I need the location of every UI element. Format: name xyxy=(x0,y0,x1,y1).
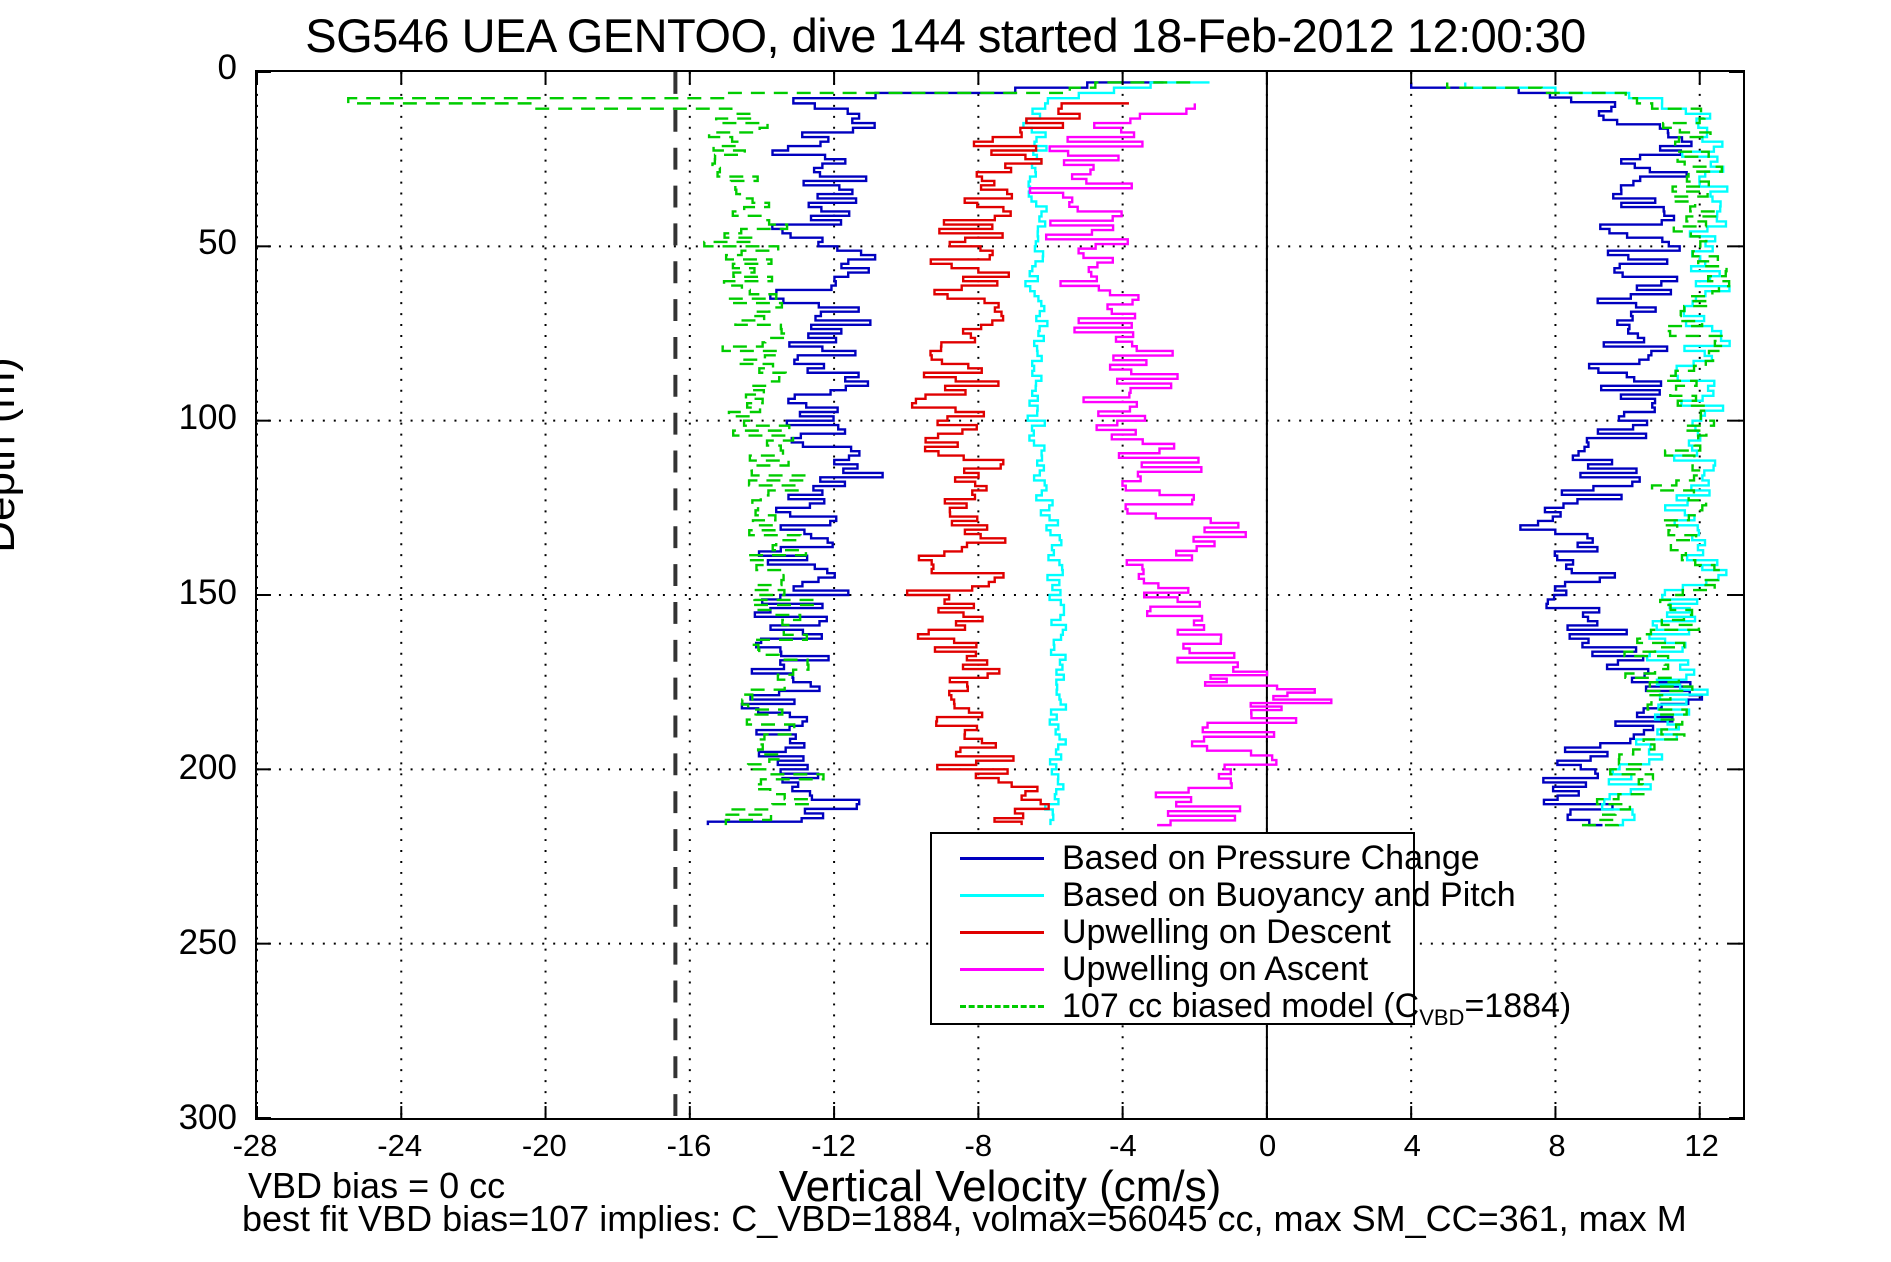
y-tick-label: 50 xyxy=(87,223,237,263)
legend-item[interactable]: Based on Pressure Change xyxy=(932,840,1413,877)
x-tick-label: -4 xyxy=(1063,1128,1183,1164)
x-tick-label: -20 xyxy=(484,1128,604,1164)
best-fit-annotation: best fit VBD bias=107 implies: C_VBD=188… xyxy=(242,1198,1687,1240)
x-tick-label: -24 xyxy=(340,1128,460,1164)
legend-item[interactable]: Upwelling on Ascent xyxy=(932,951,1413,988)
legend-item-label: Upwelling on Descent xyxy=(1062,914,1391,951)
x-tick-label: -12 xyxy=(774,1128,894,1164)
legend: Based on Pressure ChangeBased on Buoyanc… xyxy=(930,832,1415,1025)
legend-item[interactable]: Upwelling on Descent xyxy=(932,914,1413,951)
series-line-0 xyxy=(708,82,1164,825)
x-tick-label: -8 xyxy=(918,1128,1038,1164)
legend-item-label: Upwelling on Ascent xyxy=(1062,951,1368,988)
series-line-5 xyxy=(1030,103,1331,825)
legend-swatch-line xyxy=(960,857,1044,860)
series-line-3 xyxy=(1465,82,1729,825)
y-tick-label: 0 xyxy=(87,48,237,88)
x-tick-label: -16 xyxy=(629,1128,749,1164)
x-tick-label: -28 xyxy=(195,1128,315,1164)
legend-item-label: Based on Pressure Change xyxy=(1062,840,1480,877)
x-tick-label: 4 xyxy=(1352,1128,1472,1164)
series-layer xyxy=(348,82,1729,825)
y-axis-title: Depth (m) xyxy=(0,235,25,675)
legend-swatch-line xyxy=(960,1005,1044,1008)
legend-item-label: 107 cc biased model (CVBD=1884) xyxy=(1062,988,1571,1036)
x-tick-label: 12 xyxy=(1642,1128,1762,1164)
page-title: SG546 UEA GENTOO, dive 144 started 18-Fe… xyxy=(0,8,1891,64)
legend-swatch-line xyxy=(960,968,1044,971)
y-tick-label: 150 xyxy=(87,573,237,613)
x-tick-label: 0 xyxy=(1208,1128,1328,1164)
y-tick-label: 100 xyxy=(87,398,237,438)
series-line-7 xyxy=(1447,82,1729,825)
legend-swatch-line xyxy=(960,931,1044,934)
legend-item[interactable]: 107 cc biased model (CVBD=1884) xyxy=(932,988,1413,1025)
y-tick-label: 250 xyxy=(87,923,237,963)
legend-swatch-line xyxy=(960,894,1044,897)
legend-item-label: Based on Buoyancy and Pitch xyxy=(1062,877,1516,914)
x-tick-label: 8 xyxy=(1497,1128,1617,1164)
y-tick-label: 200 xyxy=(87,748,237,788)
legend-item[interactable]: Based on Buoyancy and Pitch xyxy=(932,877,1413,914)
